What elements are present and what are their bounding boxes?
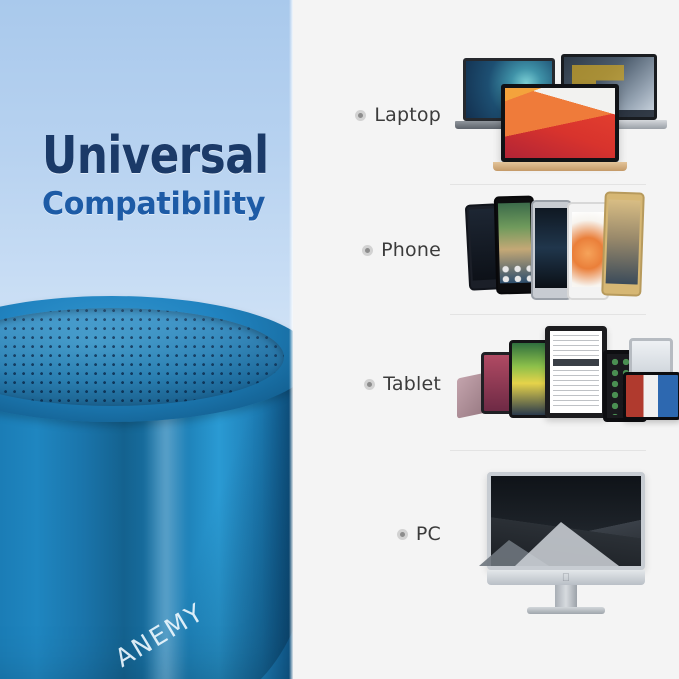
tablet-screen — [512, 343, 548, 415]
laptops-photo — [453, 46, 679, 184]
device-label-wrap-laptop: Laptop — [293, 104, 453, 126]
headline-line-1: Universal — [42, 131, 275, 181]
gold-huawei-phone — [601, 191, 645, 296]
device-label-tablet: Tablet — [383, 373, 441, 395]
tablet-text-lines — [553, 335, 599, 409]
row-divider — [450, 184, 646, 185]
device-label-pc: PC — [416, 523, 441, 545]
macbook-base — [493, 162, 627, 171]
radio-bullet-icon — [397, 529, 408, 540]
radio-bullet-icon — [355, 110, 366, 121]
phones-photo — [453, 186, 679, 314]
tablet-screen — [626, 375, 678, 417]
radio-bullet-icon — [362, 245, 373, 256]
tablet-screen — [484, 355, 512, 411]
radio-bullet-icon — [364, 379, 375, 390]
phone-app-icons — [501, 264, 531, 283]
imac-photo:  — [453, 454, 679, 614]
mountain-shape-front — [515, 522, 619, 566]
macbook-screen — [501, 84, 619, 162]
device-list-panel: Laptop — [293, 0, 679, 679]
phone-screen — [572, 212, 604, 287]
nexus-phone — [494, 195, 537, 294]
device-row-pc: PC  — [293, 454, 679, 614]
silver-galaxy-phone — [531, 200, 572, 300]
imac-stand-foot — [527, 607, 605, 614]
device-label-laptop: Laptop — [374, 104, 441, 126]
apple-logo-icon:  — [562, 573, 570, 584]
left-hero-panel: Universal Compatibility ANEMY — [0, 0, 293, 679]
universal-compatibility-infographic: Universal Compatibility ANEMY Laptop — [0, 0, 679, 679]
imac-screen — [487, 472, 645, 570]
phone-screen — [535, 208, 568, 288]
device-label-phone: Phone — [381, 239, 441, 261]
device-label-wrap-phone: Phone — [293, 239, 453, 261]
device-row-phone: Phone — [293, 186, 679, 314]
device-row-tablet: Tablet — [293, 318, 679, 450]
imac-stand-neck — [555, 585, 577, 609]
headline-line-2: Compatibility — [42, 187, 285, 221]
white-ipad — [545, 326, 607, 418]
tablet-header-bar — [553, 359, 599, 366]
row-divider — [450, 314, 646, 315]
device-label-wrap-pc: PC — [293, 523, 453, 545]
macbook-wallpaper — [505, 88, 615, 158]
kindle-fire-tablet — [623, 372, 679, 420]
phone-screen — [606, 199, 641, 284]
device-row-laptop: Laptop — [293, 46, 679, 184]
headline-block: Universal Compatibility — [42, 131, 292, 221]
imac-wallpaper — [491, 476, 641, 566]
tablet-screen — [550, 331, 602, 413]
device-label-wrap-tablet: Tablet — [293, 373, 453, 395]
row-divider — [450, 450, 646, 451]
bluetooth-speaker-product-image: ANEMY — [0, 296, 293, 679]
tablets-photo — [453, 318, 679, 450]
